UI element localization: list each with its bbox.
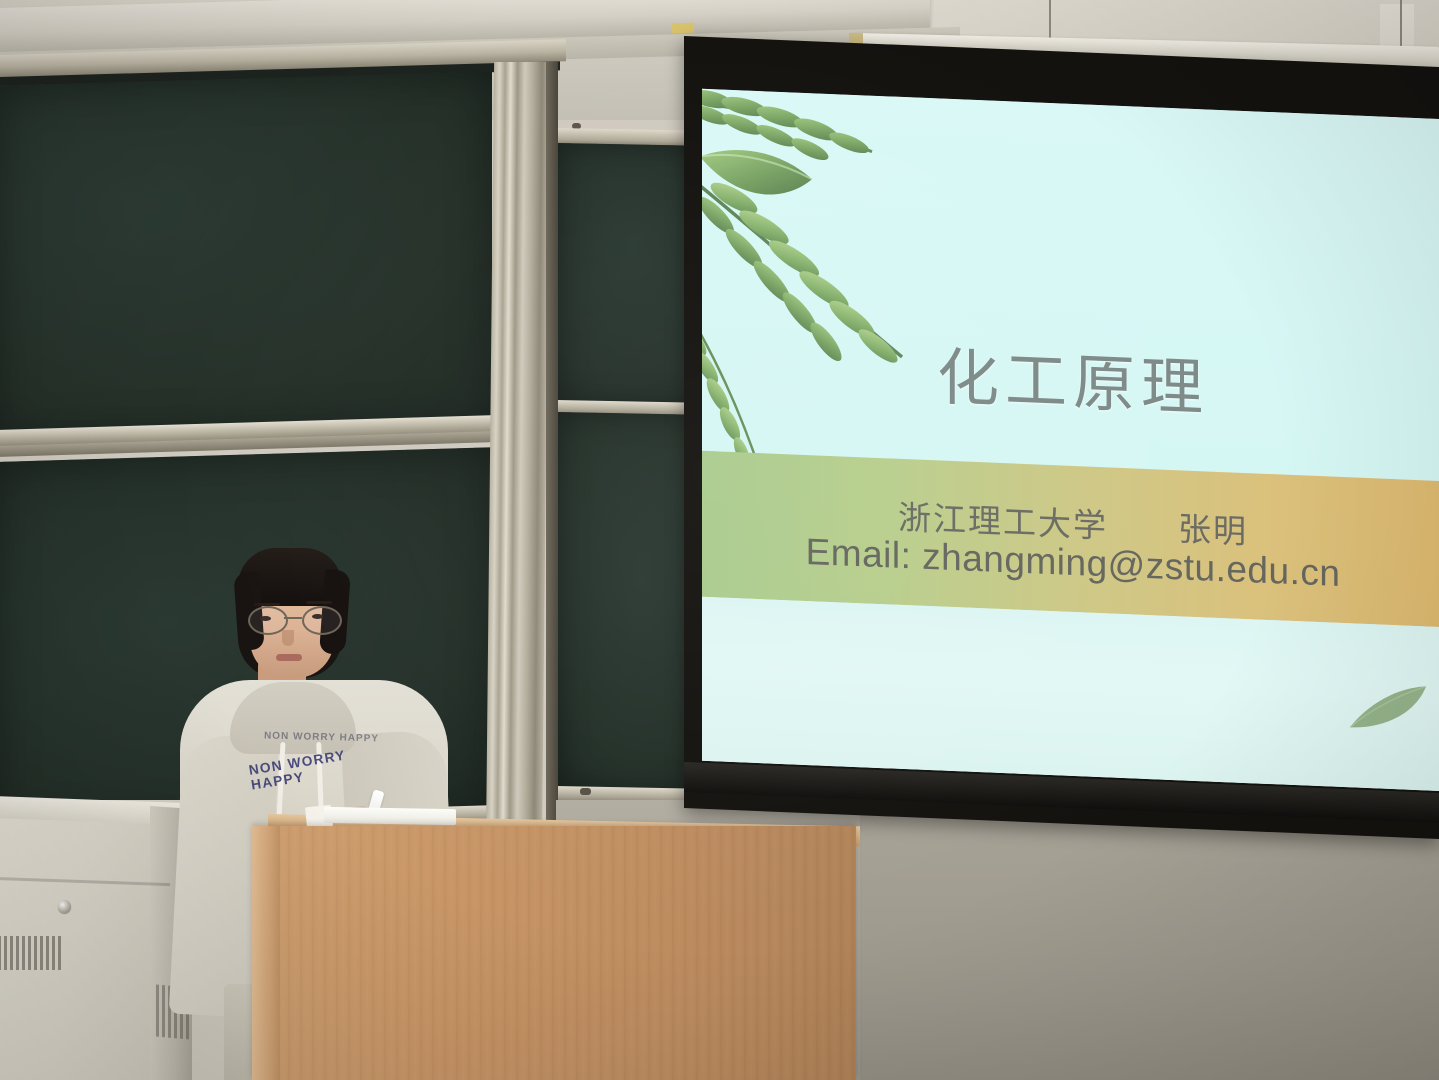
presentation-slide: 化工原理 浙江理工大学 张明 Email: zhangming@zstu.edu… [702,89,1439,791]
hoodie-graphic-print: NON WORRY HAPPY NON WORRY HAPPY [264,732,382,778]
slide-bottom-area [702,597,1439,791]
lectern-left-edge [252,826,280,1080]
lecture-hall-photo: 化工原理 浙江理工大学 张明 Email: zhangming@zstu.edu… [0,0,1439,1080]
wooden-lectern [252,826,856,1080]
lamp-suspension-wire-right [1400,0,1402,48]
nose [282,630,294,646]
cabinet-vent-slots [0,936,64,970]
projection-surface: 化工原理 浙江理工大学 张明 Email: zhangming@zstu.edu… [702,89,1439,791]
eyeglasses-icon [244,606,344,632]
blackboard-center-aluminium-column [486,62,550,852]
pull-down-projection-screen: 化工原理 浙江理工大学 张明 Email: zhangming@zstu.edu… [684,36,1439,839]
blackboard-column-shadow [546,62,558,862]
lamp-suspension-wire-left [1049,0,1051,40]
single-leaf-decoration [1344,675,1430,739]
blackboard-panel-upper-left [0,71,492,442]
mouth [276,654,302,661]
blackboard-track-knob-bottom [580,788,591,795]
cabinet-lock-icon [58,900,71,913]
lectern-paper [324,807,456,825]
hoodie-print-line-1: NON WORRY HAPPY [264,730,382,744]
eyebrow-right [306,601,332,604]
